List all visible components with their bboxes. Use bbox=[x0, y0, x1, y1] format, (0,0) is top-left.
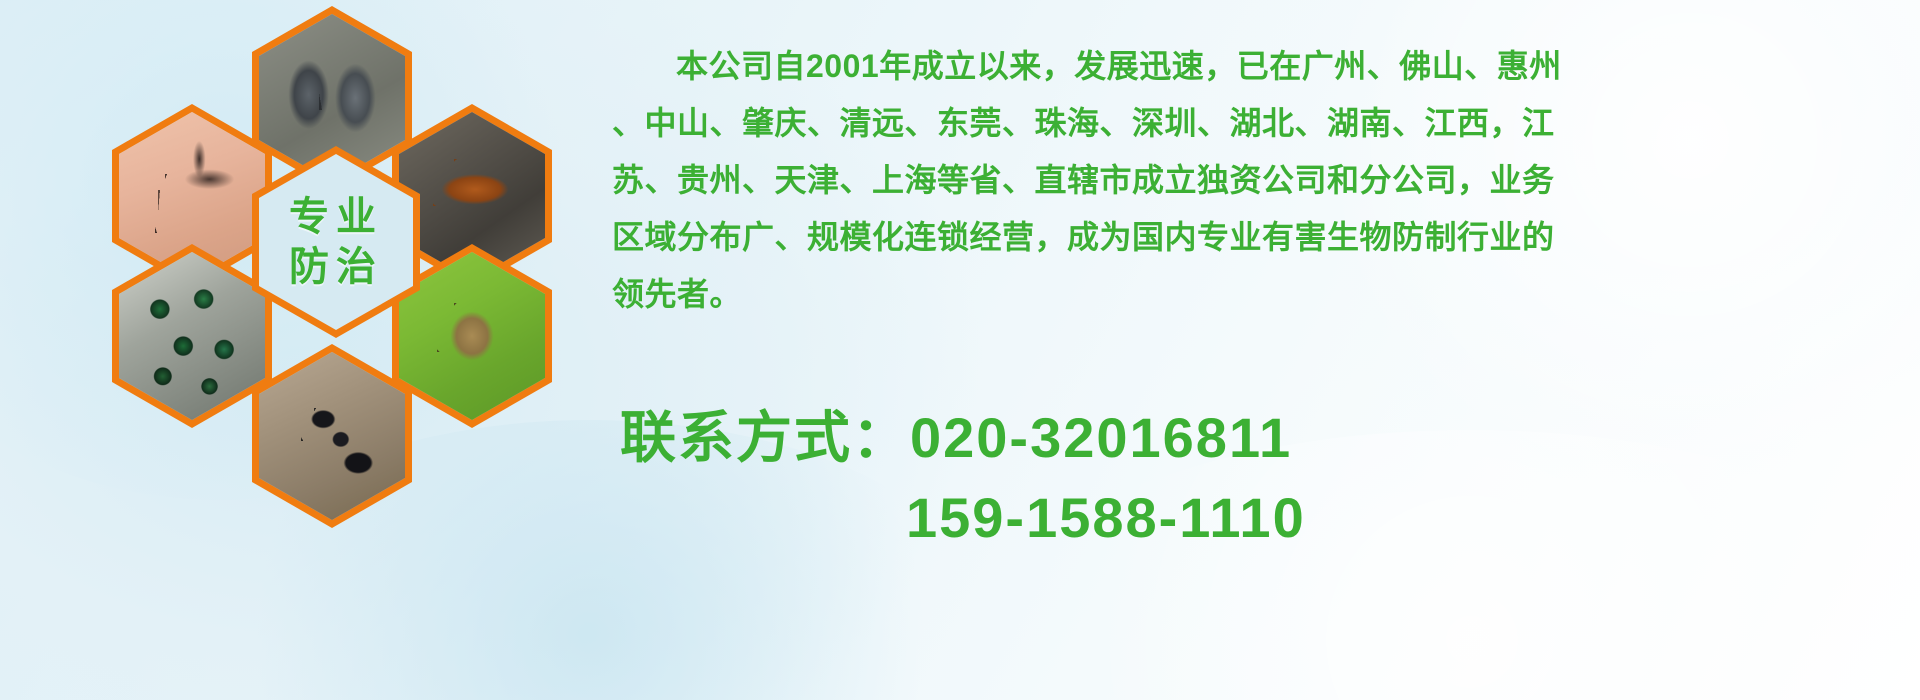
description-line: 苏、贵州、天津、上海等省、直辖市成立独资公司和分公司，业务 bbox=[612, 152, 1904, 209]
hex-ant-photo bbox=[252, 344, 412, 528]
contact-phone-secondary[interactable]: 159-1588-1110 bbox=[620, 478, 1910, 558]
hex-flies-photo bbox=[112, 244, 272, 428]
description-line: 、中山、肇庆、清远、东莞、珠海、深圳、湖北、湖南、江西，江 bbox=[612, 95, 1904, 152]
description-line: 本公司自2001年成立以来，发展迅速，已在广州、佛山、惠州 bbox=[612, 38, 1904, 95]
logo-text-line-2: 防治 bbox=[289, 246, 383, 288]
hex-inner bbox=[119, 252, 265, 420]
logo-text-line-1: 专业 bbox=[289, 196, 383, 238]
hex-inner: 专业 防治 bbox=[259, 154, 413, 330]
honeycomb-image-cluster: 专业 防治 bbox=[92, 4, 582, 564]
contact-info: 联系方式：020-32016811 159-1588-1110 bbox=[620, 398, 1910, 558]
contact-phone-primary[interactable]: 联系方式：020-32016811 bbox=[620, 398, 1910, 478]
logo-text: 专业 防治 bbox=[259, 154, 413, 330]
flies-image bbox=[119, 252, 265, 420]
ant-image bbox=[259, 352, 405, 520]
pest-control-banner: 专业 防治 本公司自2001年成立以来，发展迅速，已在广州、佛山、惠州 、中山、… bbox=[0, 0, 1920, 700]
description-line: 领先者。 bbox=[612, 266, 1904, 323]
hex-inner bbox=[399, 252, 545, 420]
stinkbug-image bbox=[399, 252, 545, 420]
company-description: 本公司自2001年成立以来，发展迅速，已在广州、佛山、惠州 、中山、肇庆、清远、… bbox=[612, 38, 1904, 323]
hex-inner bbox=[259, 352, 405, 520]
description-line: 区域分布广、规模化连锁经营，成为国内专业有害生物防制行业的 bbox=[612, 209, 1904, 266]
